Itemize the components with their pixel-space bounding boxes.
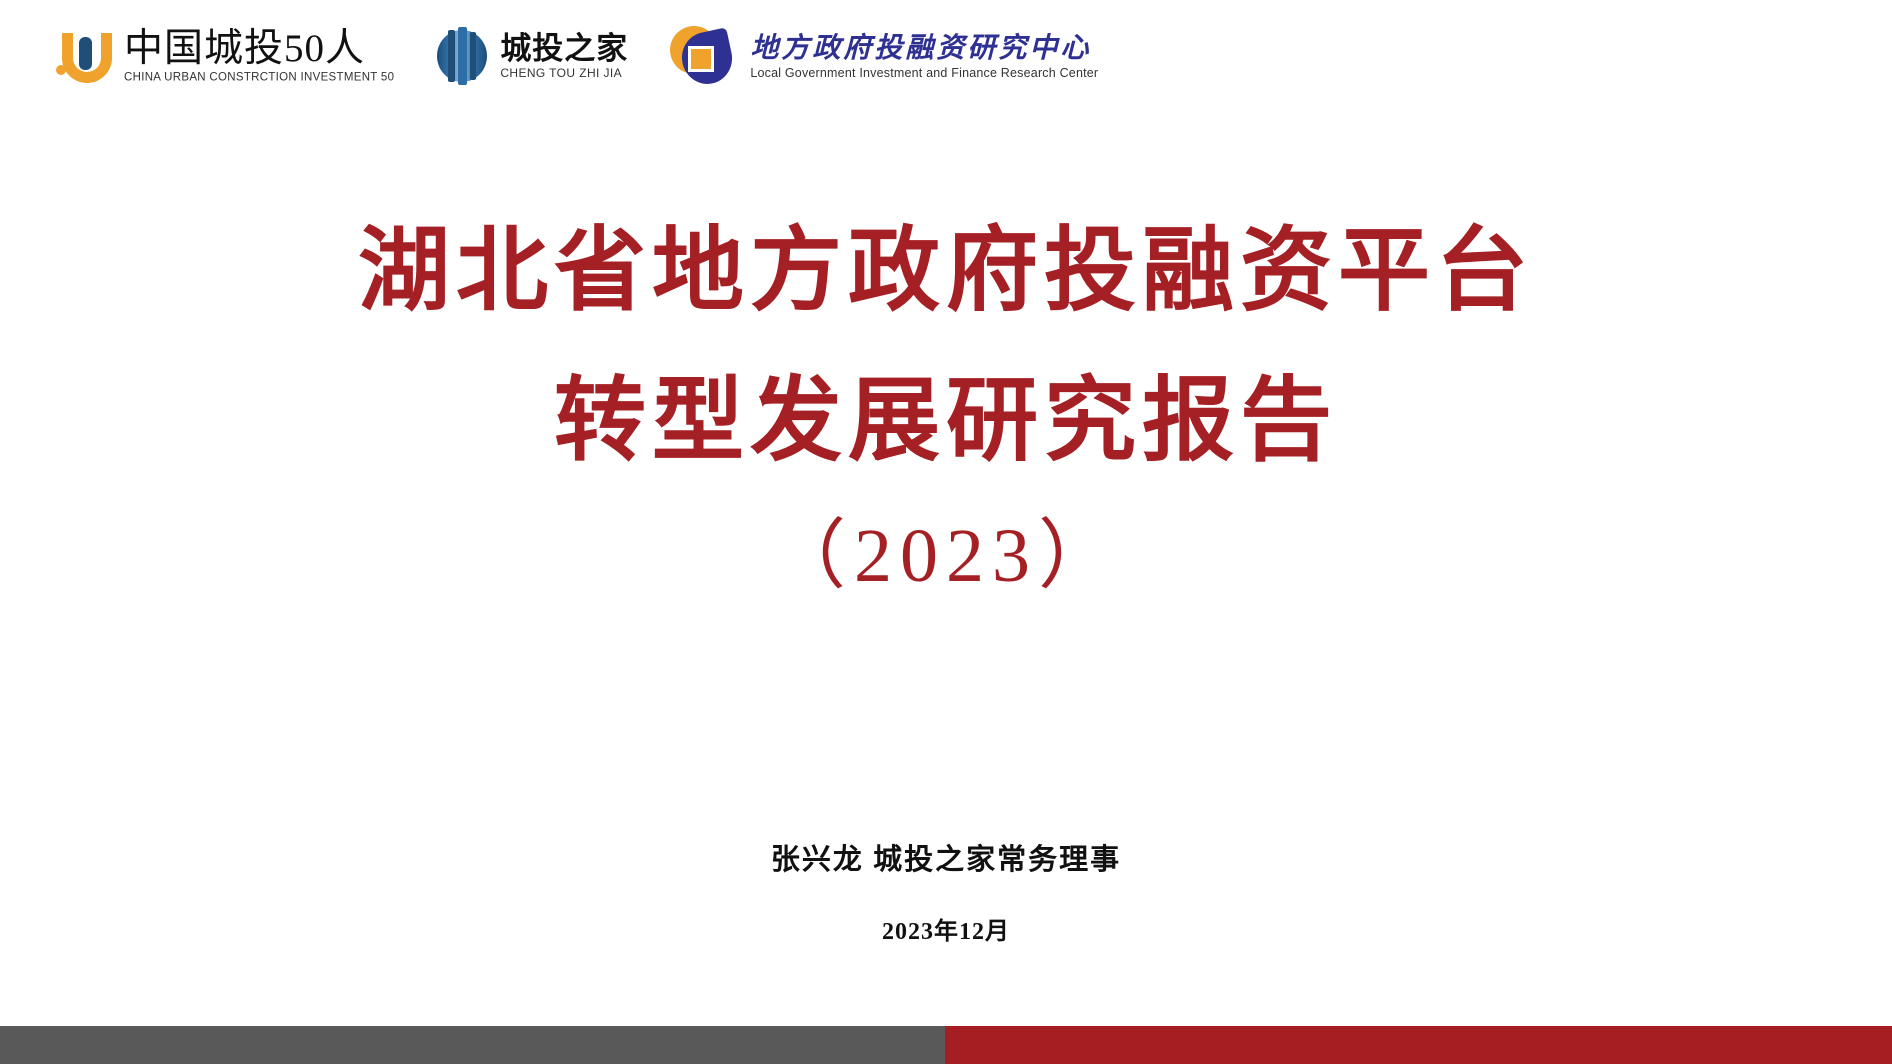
- logo-local-government-research-center: 地方政府投融资研究中心 Local Government Investment …: [668, 22, 1098, 90]
- logo-2-cn-text: 城投之家: [500, 32, 628, 66]
- logo-1-en-text: CHINA URBAN CONSTRCTION INVESTMENT 50: [124, 70, 394, 85]
- byline-block: 张兴龙 城投之家常务理事 2023年12月: [0, 840, 1892, 948]
- footer-bar: [0, 1026, 1892, 1064]
- footer-bar-gray: [0, 1026, 945, 1064]
- title-year: （2023）: [0, 496, 1892, 616]
- logo-china-urban-construction-investment-50: 中国城投50人 CHINA URBAN CONSTRCTION INVESTME…: [56, 25, 394, 87]
- presenter-name: 张兴龙 城投之家常务理事: [0, 840, 1892, 880]
- cuci50-logo-icon: [56, 25, 118, 87]
- presentation-date: 2023年12月: [0, 916, 1892, 948]
- logo-cheng-tou-zhi-jia: 城投之家 CHENG TOU ZHI JIA: [434, 25, 628, 87]
- lgifrc-logo-icon: [668, 22, 738, 90]
- logo-bar: 中国城投50人 CHINA URBAN CONSTRCTION INVESTME…: [56, 22, 1098, 90]
- logo-1-cn-text: 中国城投50人: [124, 28, 394, 70]
- logo-3-cn-text: 地方政府投融资研究中心: [750, 32, 1098, 65]
- title-line-2: 转型发展研究报告: [0, 346, 1892, 496]
- title-slide: 中国城投50人 CHINA URBAN CONSTRCTION INVESTME…: [0, 0, 1892, 1064]
- title-line-1: 湖北省地方政府投融资平台: [0, 196, 1892, 346]
- logo-2-en-text: CHENG TOU ZHI JIA: [500, 66, 628, 81]
- ctzj-globe-icon: [434, 25, 490, 87]
- logo-3-en-text: Local Government Investment and Finance …: [750, 65, 1098, 81]
- footer-bar-red: [945, 1026, 1892, 1064]
- page-title: 湖北省地方政府投融资平台 转型发展研究报告 （2023）: [0, 196, 1892, 616]
